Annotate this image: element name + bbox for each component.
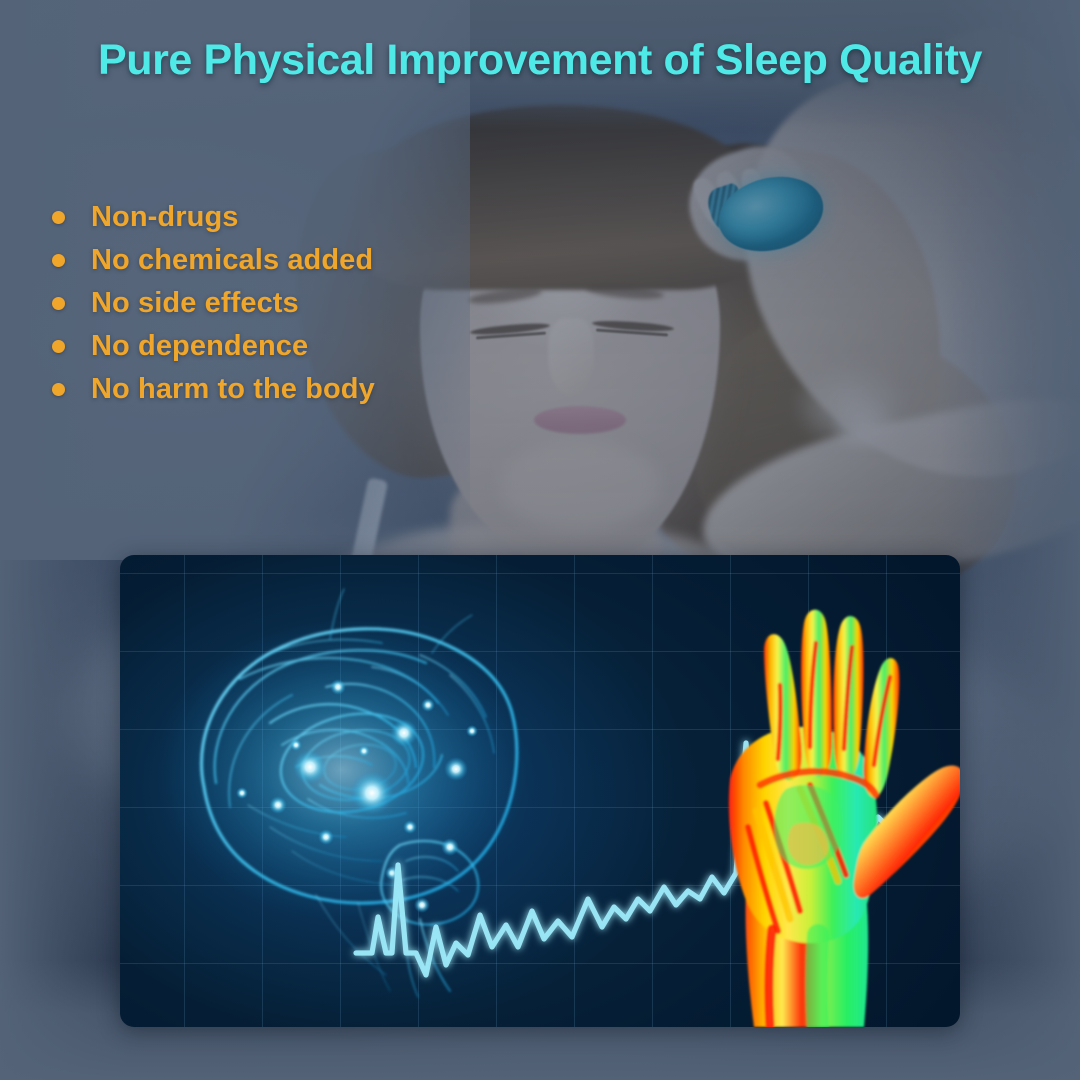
- list-item: No side effects: [52, 282, 522, 325]
- page-title: Pure Physical Improvement of Sleep Quali…: [0, 36, 1080, 85]
- list-item: Non-drugs: [52, 196, 522, 239]
- bullet-dot-icon: [52, 383, 65, 396]
- benefit-label: No harm to the body: [91, 373, 375, 406]
- list-item: No chemicals added: [52, 239, 522, 282]
- science-illustration-panel: [120, 555, 960, 1027]
- bullet-dot-icon: [52, 211, 65, 224]
- infographic-stage: Pure Physical Improvement of Sleep Quali…: [0, 0, 1080, 1080]
- benefit-label: No dependence: [91, 330, 308, 363]
- list-item: No dependence: [52, 325, 522, 368]
- bullet-dot-icon: [52, 297, 65, 310]
- right-edge-fade: [940, 0, 1080, 1080]
- left-edge-fade: [0, 0, 130, 1080]
- benefit-label: No chemicals added: [91, 244, 373, 277]
- benefit-label: Non-drugs: [91, 201, 239, 234]
- bullet-dot-icon: [52, 254, 65, 267]
- benefits-list: Non-drugs No chemicals added No side eff…: [52, 196, 522, 411]
- list-item: No harm to the body: [52, 368, 522, 411]
- benefit-label: No side effects: [91, 287, 299, 320]
- bullet-dot-icon: [52, 340, 65, 353]
- thermal-hand-illustration: [668, 589, 960, 1027]
